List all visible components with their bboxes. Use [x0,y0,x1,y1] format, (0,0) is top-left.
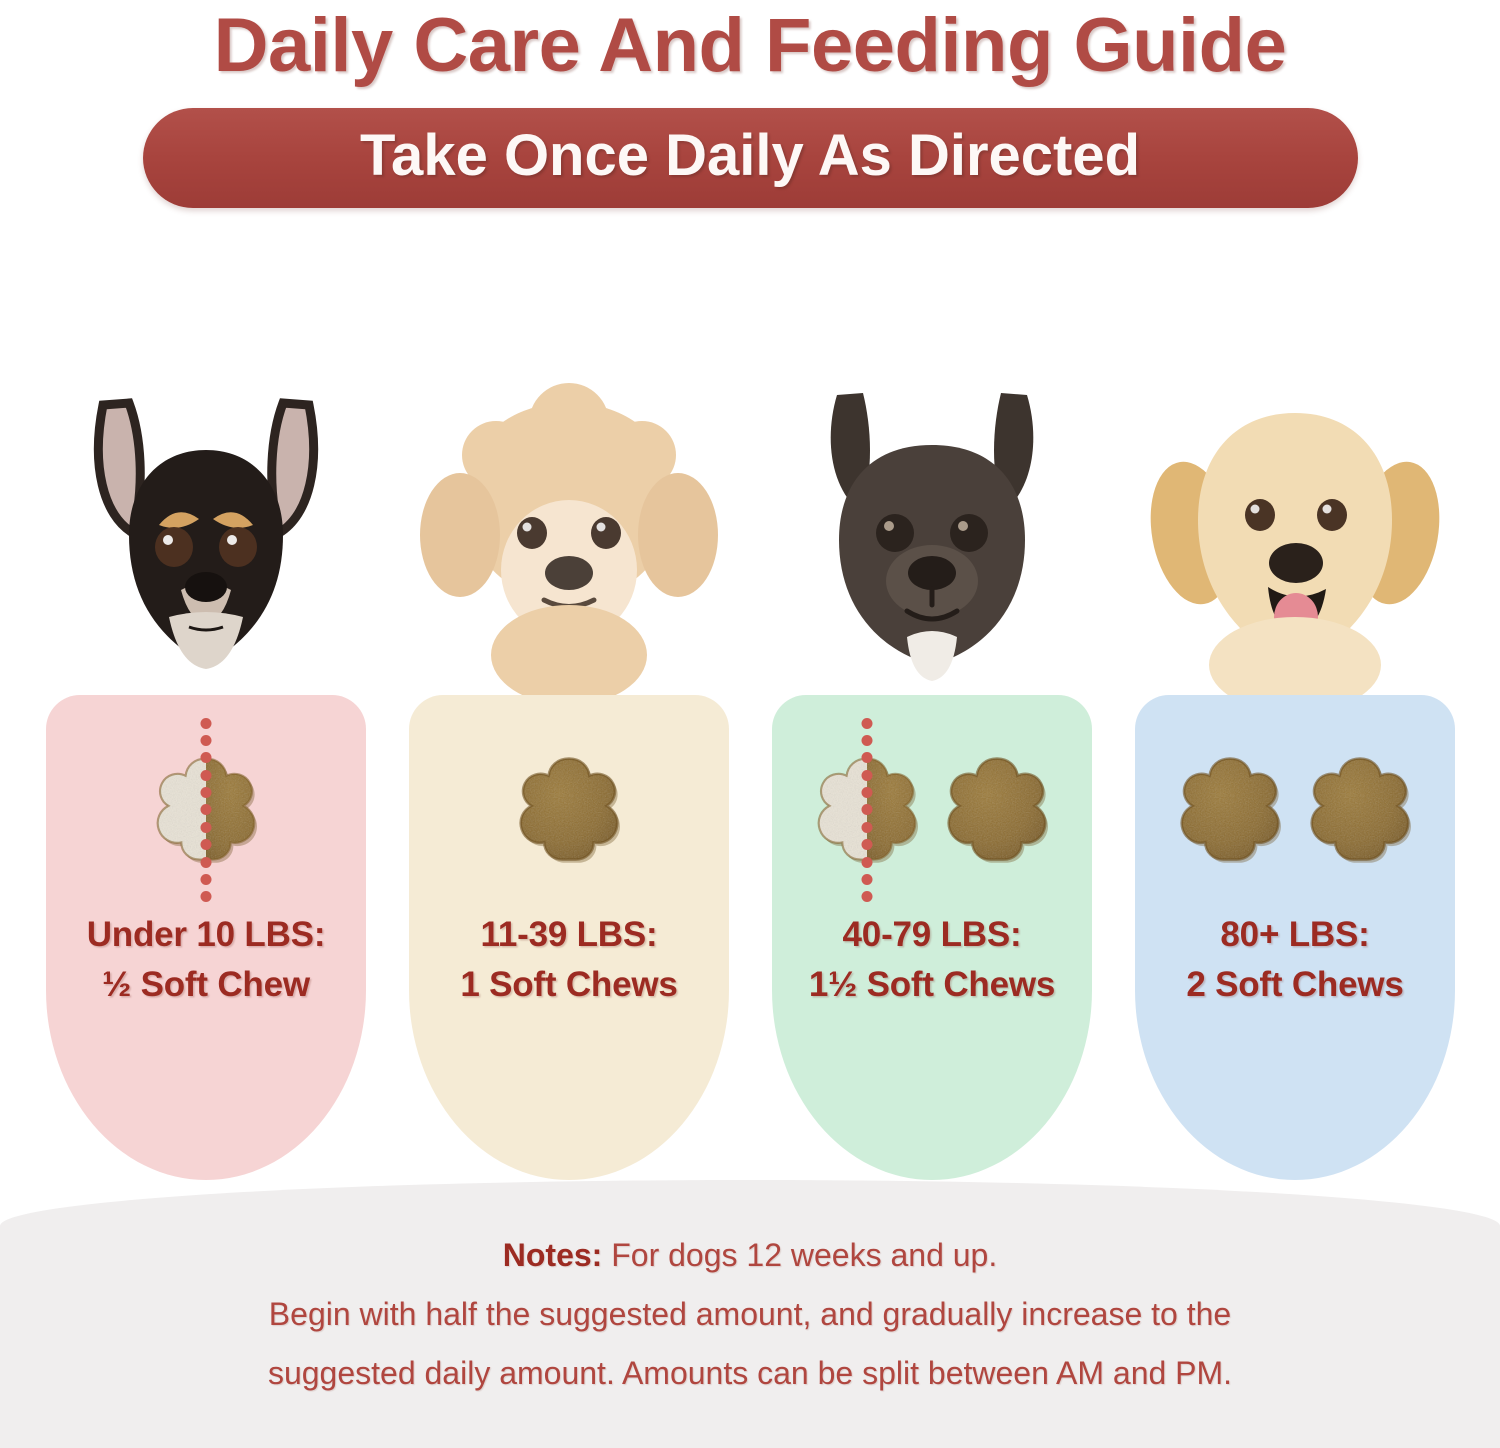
chew-illustration-group [46,735,366,885]
split-dotted-line [201,718,212,903]
feeding-card-column-3: 40-79 LBS:1½ Soft Chews [750,300,1113,1180]
soft-chew-full [939,750,1055,871]
feeding-cards-row: Under 10 LBS:½ Soft Chew11-39 LBS:1 Soft… [0,300,1500,1180]
feeding-card-column-4: 80+ LBS:2 Soft Chews [1113,300,1476,1180]
soft-chew-half [148,750,264,871]
weight-range-label: 11-39 LBS: [415,910,723,960]
dosage-label: 1½ Soft Chews [778,960,1086,1010]
chew-illustration-group [1135,735,1455,885]
feeding-card: 80+ LBS:2 Soft Chews [1135,695,1455,1180]
chew-illustration-group [409,735,729,885]
notes-line-1: Notes: For dogs 12 weeks and up. [0,1226,1500,1285]
dog-photo-chihuahua [24,365,387,695]
feeding-card: 40-79 LBS:1½ Soft Chews [772,695,1092,1180]
split-dotted-line [862,718,873,903]
dosage-label: ½ Soft Chew [52,960,360,1010]
feeding-card-column-2: 11-39 LBS:1 Soft Chews [387,300,750,1180]
weight-range-label: 80+ LBS: [1141,910,1449,960]
weight-range-label: Under 10 LBS: [52,910,360,960]
subtitle-text: Take Once Daily As Directed [223,124,1278,188]
notes-line-2: Begin with half the suggested amount, an… [0,1285,1500,1344]
dog-photo-french-bulldog [750,365,1113,695]
soft-chew-svg [511,750,627,866]
dog-photo-golden-retriever [1113,365,1476,695]
dog-illustration-french-bulldog [767,365,1097,695]
card-caption: 11-39 LBS:1 Soft Chews [409,910,729,1009]
soft-chew-full [1302,750,1418,871]
page-header: Daily Care And Feeding Guide Take Once D… [0,0,1500,208]
soft-chew-svg [1302,750,1418,866]
feeding-card: Under 10 LBS:½ Soft Chew [46,695,366,1180]
subtitle-pill-container: Take Once Daily As Directed [0,108,1500,208]
notes-line-3: suggested daily amount. Amounts can be s… [0,1344,1500,1403]
dosage-label: 1 Soft Chews [415,960,723,1010]
soft-chew-full [1172,750,1288,871]
feeding-card: 11-39 LBS:1 Soft Chews [409,695,729,1180]
soft-chew-half [809,750,925,871]
card-caption: Under 10 LBS:½ Soft Chew [46,910,366,1009]
weight-range-label: 40-79 LBS: [778,910,1086,960]
feeding-card-column-1: Under 10 LBS:½ Soft Chew [24,300,387,1180]
dog-illustration-poodle [404,365,734,695]
notes-section: Notes: For dogs 12 weeks and up. Begin w… [0,1180,1500,1448]
soft-chew-svg [1172,750,1288,866]
notes-label: Notes: [503,1237,603,1273]
soft-chew-full [511,750,627,871]
card-caption: 80+ LBS:2 Soft Chews [1135,910,1455,1009]
dosage-label: 2 Soft Chews [1141,960,1449,1010]
dog-illustration-golden-retriever [1130,365,1460,695]
card-caption: 40-79 LBS:1½ Soft Chews [772,910,1092,1009]
page-title: Daily Care And Feeding Guide [0,6,1500,86]
chew-illustration-group [772,735,1092,885]
soft-chew-svg [939,750,1055,866]
subtitle-pill: Take Once Daily As Directed [143,108,1358,208]
dog-photo-poodle [387,365,750,695]
dog-illustration-chihuahua [41,365,371,695]
notes-line-1-rest: For dogs 12 weeks and up. [602,1237,997,1273]
